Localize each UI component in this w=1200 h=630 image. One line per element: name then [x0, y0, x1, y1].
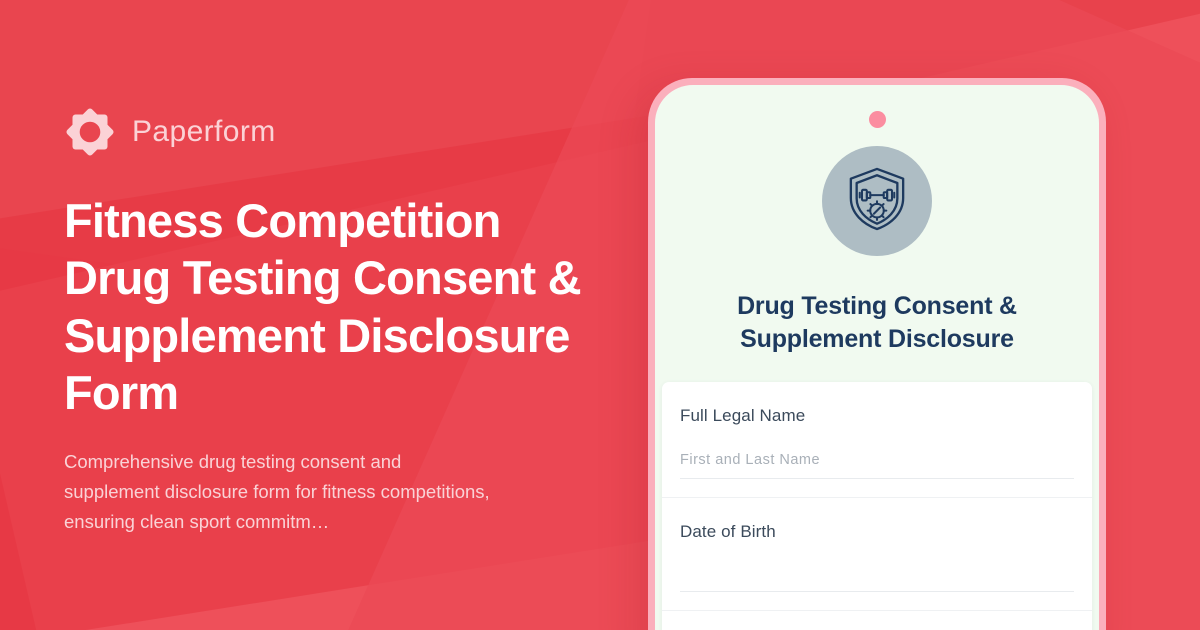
camera-dot-icon: [869, 111, 886, 128]
page-title: Fitness Competition Drug Testing Consent…: [64, 192, 604, 421]
brand-name: Paperform: [132, 117, 276, 147]
full-legal-name-input[interactable]: First and Last Name: [680, 452, 1074, 479]
phone-screen: Drug Testing Consent & Supplement Disclo…: [655, 85, 1099, 630]
phone-mockup: Drug Testing Consent & Supplement Disclo…: [648, 78, 1106, 630]
hero-content: Paperform Fitness Competition Drug Testi…: [64, 106, 644, 537]
form-field-next: [662, 611, 1092, 630]
brand-logo[interactable]: Paperform: [64, 106, 644, 158]
form-field-full-legal-name: Full Legal Name First and Last Name: [662, 382, 1092, 498]
date-of-birth-input[interactable]: [680, 568, 1074, 592]
form-title: Drug Testing Consent & Supplement Disclo…: [655, 290, 1099, 356]
form-card: Full Legal Name First and Last Name Date…: [662, 382, 1092, 630]
field-label: Date of Birth: [680, 522, 1074, 542]
paperform-logo-icon: [64, 106, 116, 158]
page-subtitle: Comprehensive drug testing consent and s…: [64, 447, 494, 537]
form-header-icon: [822, 146, 932, 256]
form-field-date-of-birth: Date of Birth: [662, 498, 1092, 611]
shield-dumbbell-icon: [846, 166, 908, 237]
field-label: Full Legal Name: [680, 406, 1074, 426]
